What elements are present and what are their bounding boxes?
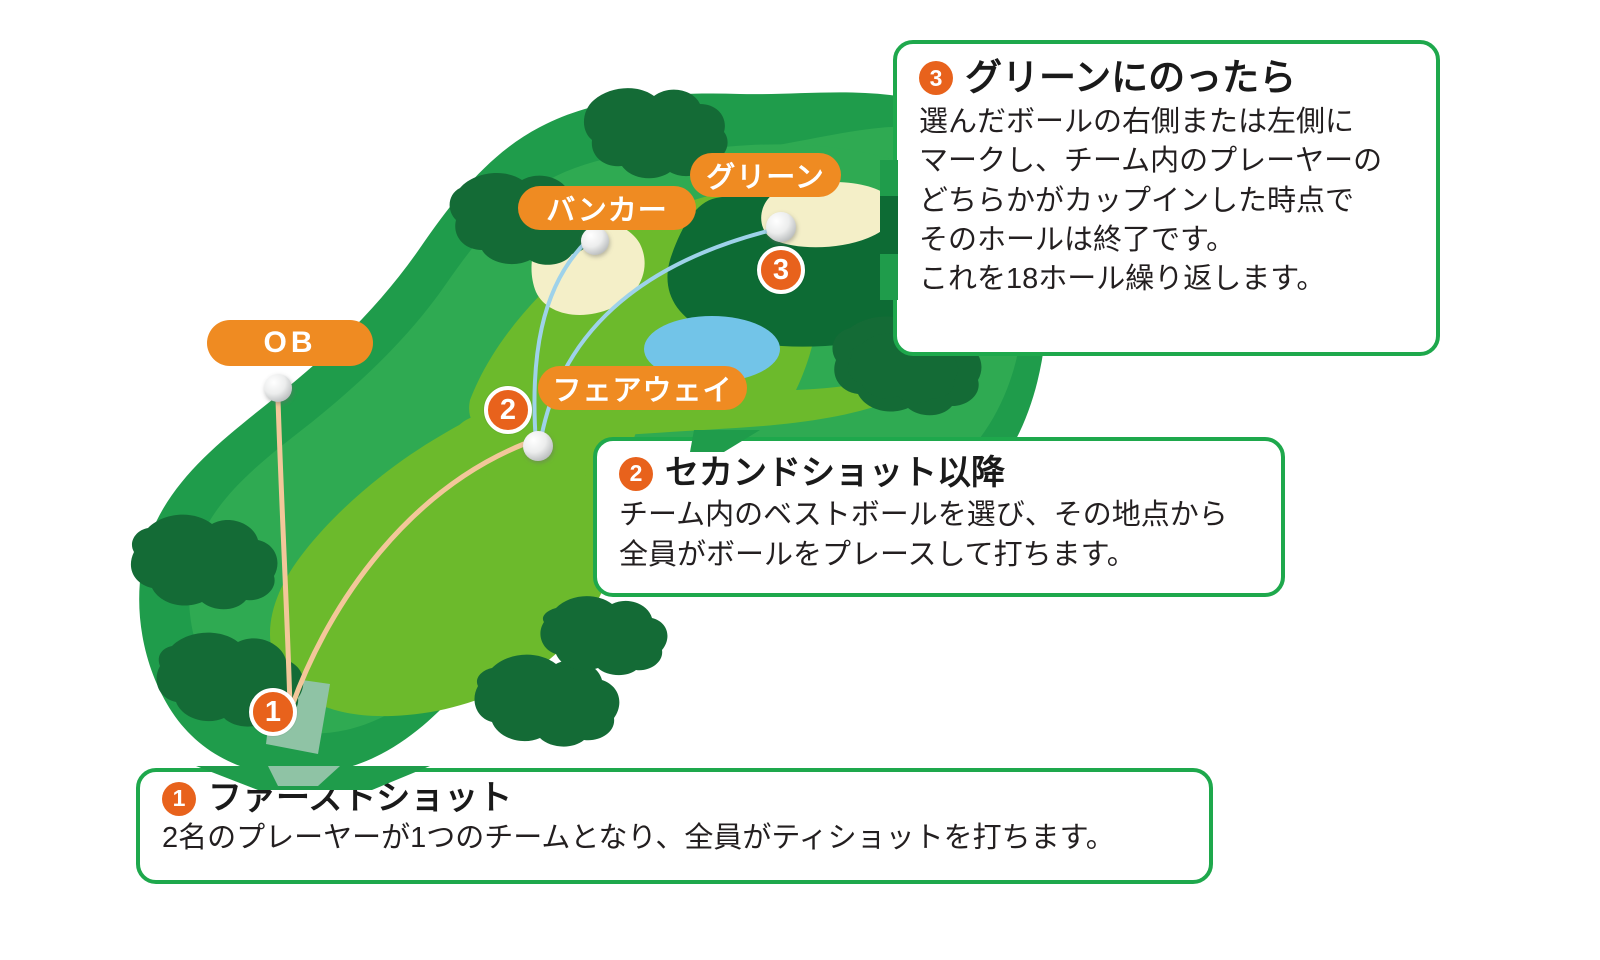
ball-fairway [523, 431, 553, 461]
ball-bunker [581, 227, 609, 255]
callout-step-2: 2 セカンドショット以降 チーム内のベストボールを選び、その地点から 全員がボー… [593, 437, 1285, 597]
map-marker-3: 3 [757, 246, 805, 294]
callout-step-1-line-1: 2名のプレーヤーが1つのチームとなり、全員がティショットを打ちます。 [162, 819, 1187, 858]
map-label-bunker: バンカー [518, 186, 696, 230]
callout-step-1-body: 2名のプレーヤーが1つのチームとなり、全員がティショットを打ちます。 [162, 819, 1187, 858]
golf-course-diagram: OB バンカー グリーン フェアウェイ 1 2 3 3 グリーンにのったら 選ん… [0, 0, 1600, 960]
callout-step-2-title: セカンドショット以降 [665, 455, 1005, 492]
callout-step-1-badge: 1 [162, 782, 196, 816]
callout-step-3-line-5: これを18ホール繰り返します。 [919, 260, 1414, 299]
map-marker-1: 1 [249, 688, 297, 736]
callout-step-3-line-2: マークし、チーム内のプレーヤーの [919, 142, 1414, 181]
callout-step-3-line-1: 選んだボールの右側または左側に [919, 103, 1414, 142]
callout-step-3-badge: 3 [919, 61, 953, 95]
map-label-ob: OB [207, 320, 373, 366]
map-marker-2: 2 [484, 386, 532, 434]
callout-step-3-body: 選んだボールの右側または左側に マークし、チーム内のプレーヤーの どちらかがカッ… [919, 103, 1414, 300]
ball-green [766, 212, 796, 242]
callout-step-3-line-3: どちらかがカップインした時点で [919, 182, 1414, 221]
callout-step-1-title: ファーストショット [208, 780, 512, 817]
callout-step-3-header: 3 グリーンにのったら [919, 58, 1414, 99]
callout-step-2-body: チーム内のベストボールを選び、その地点から 全員がボールをプレースして打ちます。 [619, 496, 1259, 575]
ball-ob [264, 374, 292, 402]
callout-step-3-line-4: そのホールは終了です。 [919, 221, 1414, 260]
callout-step-2-badge: 2 [619, 457, 653, 491]
callout-step-3-title: グリーンにのったら [965, 58, 1296, 99]
callout-step-2-line-2: 全員がボールをプレースして打ちます。 [619, 536, 1259, 575]
map-label-fairway: フェアウェイ [538, 366, 747, 410]
callout-step-2-line-1: チーム内のベストボールを選び、その地点から [619, 496, 1259, 535]
callout-step-1: 1 ファーストショット 2名のプレーヤーが1つのチームとなり、全員がティショット… [136, 768, 1213, 884]
callout-step-3: 3 グリーンにのったら 選んだボールの右側または左側に マークし、チーム内のプレ… [893, 40, 1440, 356]
map-label-green: グリーン [690, 153, 841, 197]
callout-step-2-header: 2 セカンドショット以降 [619, 455, 1259, 492]
callout-step-1-header: 1 ファーストショット [162, 780, 1187, 817]
